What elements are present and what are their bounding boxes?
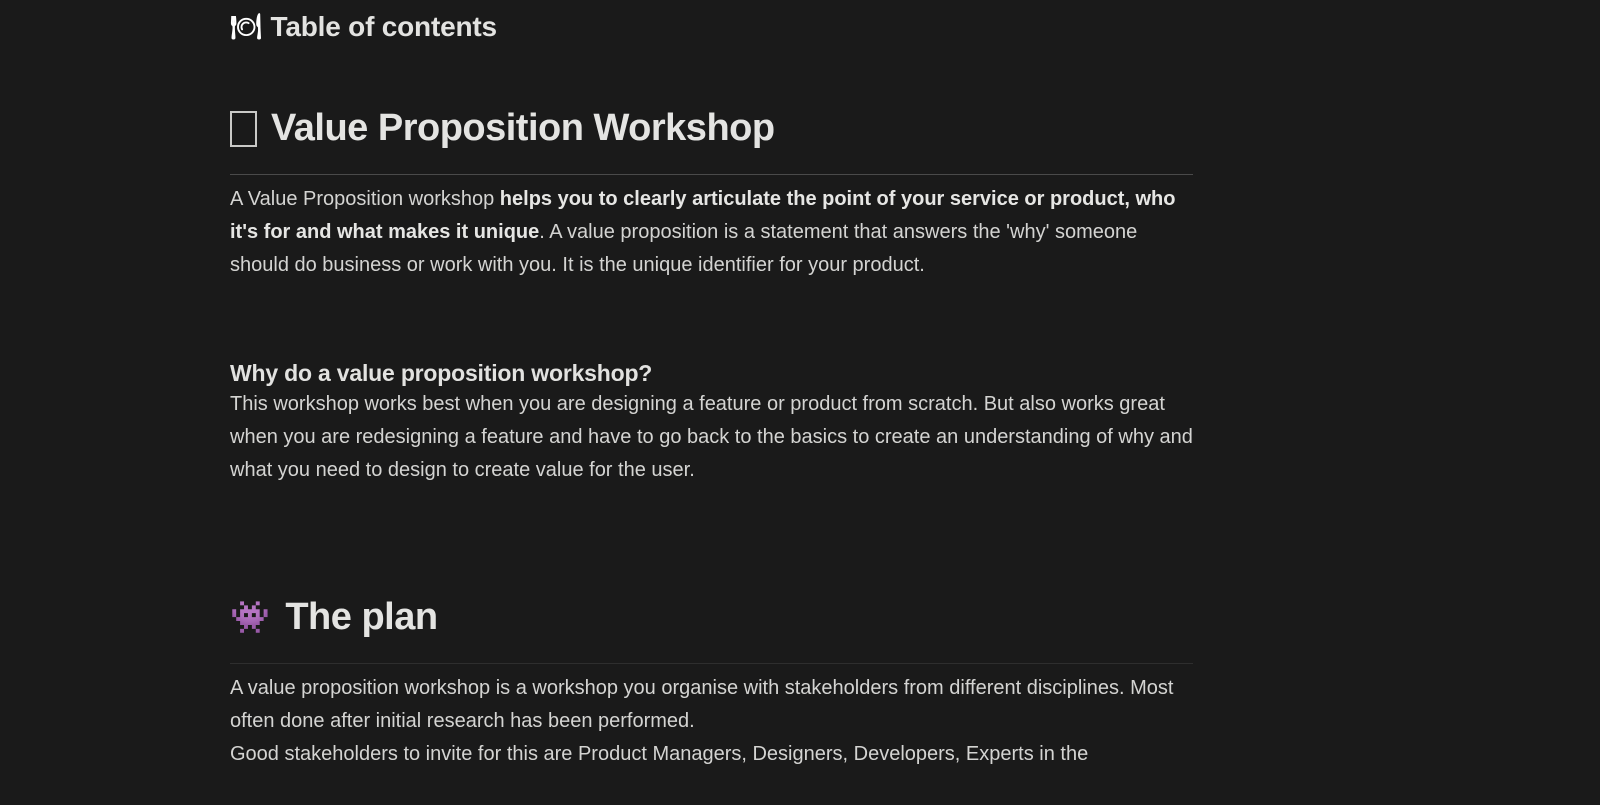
intro-paragraph: A Value Proposition workshop helps you t… (230, 183, 1193, 282)
fork-and-knife-with-plate-icon: 🍽 (230, 15, 262, 40)
page-title-text: Value Proposition Workshop (271, 104, 775, 152)
the-plan-line-1: A value proposition workshop is a worksh… (230, 672, 1193, 738)
the-plan-divider (230, 663, 1193, 664)
the-plan-paragraph: A value proposition workshop is a worksh… (230, 672, 1193, 771)
why-paragraph: This workshop works best when you are de… (230, 388, 1193, 487)
page-title: Value Proposition Workshop (230, 104, 1193, 152)
the-plan-line-2: Good stakeholders to invite for this are… (230, 738, 1193, 771)
intro-part-1: A Value Proposition workshop (230, 188, 500, 210)
the-plan-section: 👾 The plan A value proposition workshop … (230, 593, 1193, 771)
table-of-contents-label: Table of contents (271, 8, 497, 46)
alien-monster-icon: 👾 (230, 601, 269, 633)
why-subheading: Why do a value proposition workshop? (230, 358, 1193, 388)
value-proposition-section: Value Proposition Workshop A Value Propo… (230, 104, 1193, 282)
the-plan-title-text: The plan (285, 593, 437, 641)
the-plan-title: 👾 The plan (230, 593, 1193, 641)
why-section: Why do a value proposition workshop? Thi… (230, 358, 1193, 487)
missing-glyph-box-icon (230, 111, 257, 147)
document-content: 🍽 Table of contents Value Proposition Wo… (230, 0, 1193, 771)
document-page: 🍽 Table of contents Value Proposition Wo… (0, 0, 1600, 805)
title-divider (230, 174, 1193, 175)
table-of-contents-heading: 🍽 Table of contents (230, 0, 1193, 46)
